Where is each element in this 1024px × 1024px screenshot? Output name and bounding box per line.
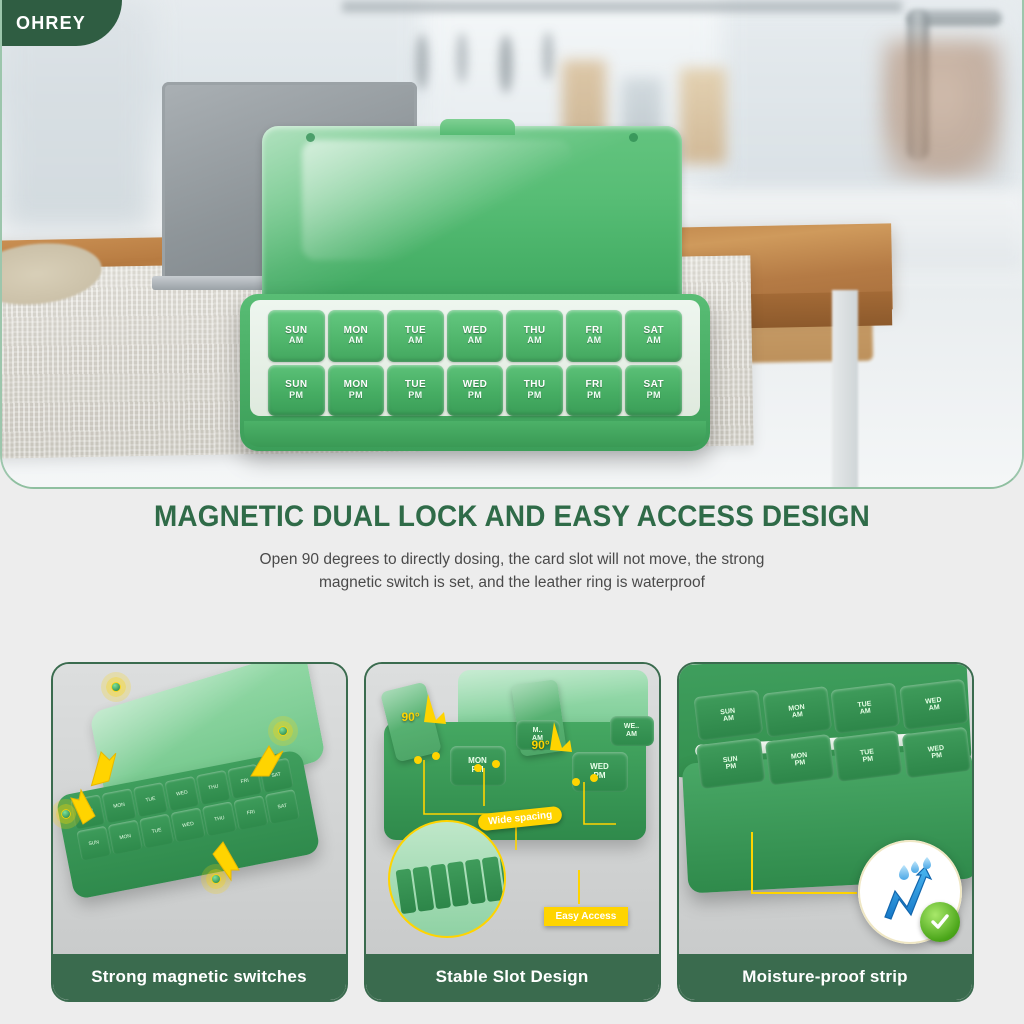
compartment-wed-pm[interactable]: WED PM [447,365,504,417]
compartment-wed-am[interactable]: WED AM [447,310,504,362]
compartment-mon-pm[interactable]: MON PM [328,365,385,417]
card-1-image: SUNSUN MONMON TUETUE WEDWED THUTHU FRIFR… [53,664,346,954]
card-3-caption: Moisture-proof strip [679,954,972,1000]
compartment-sat-am[interactable]: SAT AM [625,310,682,362]
page-subtitle: Open 90 degrees to directly dosing, the … [0,548,1024,595]
lid-magnet-left-icon [306,133,315,142]
period-label: PM [468,391,482,400]
compartment-fri-am[interactable]: FRI AM [566,310,623,362]
compartment-wed-pm: WEDPM [901,727,970,779]
compartment-tue-pm: TUEPM [832,730,901,782]
period-label: AM [527,336,542,345]
compartment-tue-am: TUEAM [830,682,899,734]
period-label: PM [349,391,363,400]
period-label: AM [408,336,423,345]
lid-hinge [440,119,515,135]
compartment-mon-am: MONAM [761,686,830,738]
card-3-image: SUNAM SUNPM MONAM MONPM TUEAM TUEPM WEDA… [679,664,972,954]
feature-card-moisture-proof[interactable]: SUNAM SUNPM MONAM MONPM TUEAM TUEPM WEDA… [677,662,974,1002]
period-label: AM [468,336,483,345]
person-blur [882,40,1002,180]
day-column-tue: TUE AM TUE PM [387,310,444,416]
moisture-proof-badge [858,840,962,944]
feature-card-stable-slot[interactable]: MONPM WEDPM M..AM WE..AM 90° 90° [364,662,661,1002]
compartment-grid: SUNAM SUNPM MONAM MONPM TUEAM TUEPM WEDA… [694,681,968,787]
inset-closeup [388,820,506,938]
inset-compartments [395,854,505,914]
hero-product-photo: SUN AM SUN PM MON [2,0,1022,487]
day-column-sat: SAT AM SAT PM [625,310,682,416]
period-label: AM [348,336,363,345]
compartment-mon-pm: MONPM [764,734,833,786]
subtitle-line-1: Open 90 degrees to directly dosing, the … [0,548,1024,571]
organizer-lid [262,126,682,306]
period-label: AM [646,336,661,345]
lid-magnet-right-icon [629,133,638,142]
period-label: AM [289,336,304,345]
feature-card-row: SUNSUN MONMON TUETUE WEDWED THUTHU FRIFR… [0,662,1024,1002]
pill-organizer: SUN AM SUN PM MON [240,126,710,451]
card-1-arrows [53,664,346,954]
check-icon [920,902,960,942]
compartment-sun-am[interactable]: SUN AM [268,310,325,362]
day-column-mon: MON AM MON PM [328,310,385,416]
badge-easy-access: Easy Access [544,907,629,926]
headline-section: MAGNETIC DUAL LOCK AND EASY ACCESS DESIG… [0,500,1024,595]
subtitle-line-2: magnetic switch is set, and the leather … [0,571,1024,594]
tray-inner: SUN AM SUN PM MON [250,300,700,416]
compartment-fri-pm[interactable]: FRI PM [566,365,623,417]
compartment-tue-am[interactable]: TUE AM [387,310,444,362]
period-label: AM [587,336,602,345]
brand-name: OHREY [16,13,86,34]
compartment-wed-am: WEDAM [898,679,967,731]
product-infographic: SUN AM SUN PM MON [0,0,1024,1024]
day-column-thu: THU AM THU PM [506,310,563,416]
compartment-sun-pm: SUNPM [695,738,764,790]
seal-callout-bracket [751,832,857,894]
hero-section: SUN AM SUN PM MON [0,0,1024,489]
card-1-caption: Strong magnetic switches [53,954,346,1000]
feature-card-magnetic-switches[interactable]: SUNSUN MONMON TUETUE WEDWED THUTHU FRIFR… [51,662,348,1002]
lid-highlight [302,140,572,260]
compartment-sat-pm[interactable]: SAT PM [625,365,682,417]
period-label: PM [408,391,422,400]
compartment-mon-am[interactable]: MON AM [328,310,385,362]
card-2-caption: Stable Slot Design [366,954,659,1000]
organizer-tray: SUN AM SUN PM MON [240,294,710,451]
compartment-tue-pm[interactable]: TUE PM [387,365,444,417]
period-label: PM [587,391,601,400]
callout-line [578,870,580,904]
tray-base [244,421,706,447]
card-2-image: MONPM WEDPM M..AM WE..AM 90° 90° [366,664,659,954]
period-label: PM [647,391,661,400]
table-leg [832,290,858,489]
compartment-sun-pm[interactable]: SUN PM [268,365,325,417]
compartment-grid: SUN AM SUN PM MON [268,310,682,416]
page-title: MAGNETIC DUAL LOCK AND EASY ACCESS DESIG… [36,500,988,534]
period-label: PM [527,391,541,400]
day-column-fri: FRI AM FRI PM [566,310,623,416]
compartment-sun-am: SUNAM [693,690,762,742]
compartment-thu-am[interactable]: THU AM [506,310,563,362]
compartment-thu-pm[interactable]: THU PM [506,365,563,417]
period-label: PM [289,391,303,400]
day-column-wed: WED AM WED PM [447,310,504,416]
day-column-sun: SUN AM SUN PM [268,310,325,416]
